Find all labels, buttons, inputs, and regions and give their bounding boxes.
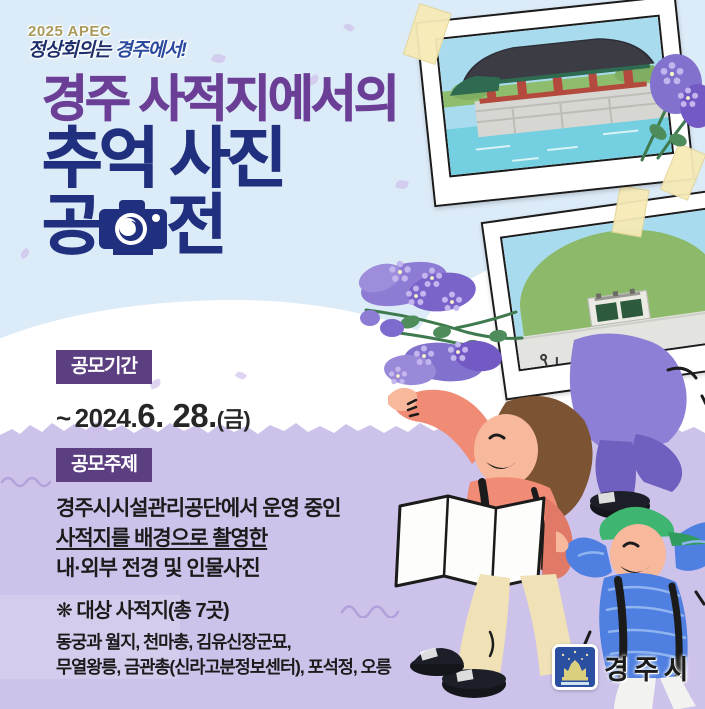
sites-line-1: 동궁과 월지, 천마총, 김유신장군묘, <box>56 630 391 655</box>
theme-line-1: 경주시시설관리공단에서 운영 중인 <box>56 494 340 524</box>
theme-line-2: 사적지를 배경으로 촬영한 <box>56 524 340 554</box>
period-tilde: ~ <box>56 403 71 433</box>
theme-badge: 공모주제 <box>56 448 152 482</box>
apec-logo-year: 2025 APEC <box>28 24 218 39</box>
sneaker-decor <box>408 644 466 676</box>
section-period: 공모기간 ~ 2024.6. 28.(금) <box>56 350 250 435</box>
apec-logo-slogan: 정상회의는 경주에서! <box>28 41 218 60</box>
lavender-flowers-decor-right <box>632 40 705 170</box>
apec-logo: 2025 APEC 정상회의는 경주에서! <box>28 24 218 60</box>
headline-line-1: 경주 사적지에서의 <box>42 76 397 122</box>
theme-description: 경주시시설관리공단에서 운영 중인 사적지를 배경으로 촬영한 내·외부 전경 … <box>56 494 340 583</box>
gyeongju-city-emblem-icon <box>552 644 598 690</box>
section-sites: ❋ 대상 사적지(총 7곳) 동궁과 월지, 천마총, 김유신장군묘, 무열왕릉… <box>56 594 391 681</box>
poster-canvas: 2025 APEC 정상회의는 경주에서! 경주 사적지에서의 추억 사진 공 … <box>0 0 705 709</box>
period-badge: 공모기간 <box>56 350 152 384</box>
poster-headline: 경주 사적지에서의 추억 사진 공 전 <box>42 76 397 259</box>
headline-line-3: 공 전 <box>42 193 397 259</box>
sites-list: 동궁과 월지, 천마총, 김유신장군묘, 무열왕릉, 금관총(신라고분정보센터)… <box>56 630 391 681</box>
theme-line-3: 내·외부 전경 및 인물사진 <box>56 554 340 584</box>
sites-line-2: 무열왕릉, 금관총(신라고분정보센터), 포석정, 오릉 <box>56 655 391 680</box>
apec-slogan-part1: 정상회의는 <box>28 40 115 61</box>
gyeongju-city-name: 경주시 <box>604 648 694 687</box>
period-year: 2024. <box>75 403 138 433</box>
headline-line-3-before: 공 <box>42 195 99 256</box>
sites-title: ❋ 대상 사적지(총 7곳) <box>56 594 391 623</box>
camera-icon <box>97 193 169 259</box>
period-date: ~ 2024.6. 28.(금) <box>56 397 250 435</box>
squiggle-decor-left <box>0 470 60 490</box>
headline-line-3-after: 전 <box>167 195 224 256</box>
period-day-of-week: (금) <box>217 407 250 432</box>
headline-line-2: 추억 사진 <box>42 128 397 189</box>
apec-slogan-part2: 경주에서! <box>115 40 186 61</box>
section-theme: 공모주제 경주시시설관리공단에서 운영 중인 사적지를 배경으로 촬영한 내·외… <box>56 448 340 583</box>
gyeongju-city-logo: 경주시 <box>552 644 694 690</box>
period-month-day: 6. 28. <box>137 397 217 434</box>
